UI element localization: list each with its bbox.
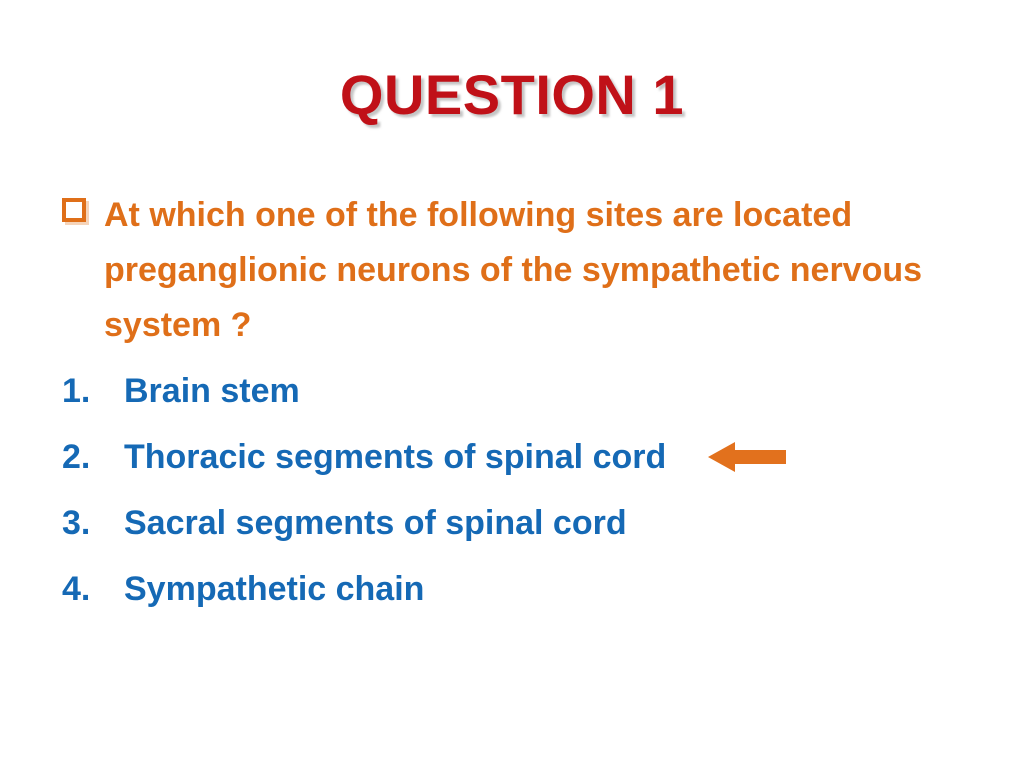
question-text: At which one of the following sites are … <box>104 188 934 353</box>
option-number: 4. <box>62 570 124 609</box>
option-label: Sympathetic chain <box>124 570 424 609</box>
hollow-square-bullet-icon <box>62 198 86 222</box>
list-item[interactable]: 1. Brain stem <box>62 358 1002 424</box>
option-number: 3. <box>62 504 124 543</box>
list-item[interactable]: 4. Sympathetic chain <box>62 556 1002 622</box>
question-row: At which one of the following sites are … <box>62 188 962 353</box>
option-label: Brain stem <box>124 372 300 411</box>
options-list: 1. Brain stem 2. Thoracic segments of sp… <box>62 358 1002 622</box>
option-label: Sacral segments of spinal cord <box>124 504 627 543</box>
option-number: 2. <box>62 438 124 477</box>
option-number: 1. <box>62 372 124 411</box>
option-label: Thoracic segments of spinal cord <box>124 438 666 477</box>
question-block: At which one of the following sites are … <box>62 188 962 353</box>
left-arrow-icon <box>708 440 786 474</box>
page-title: QUESTION 1 <box>0 62 1024 127</box>
slide-canvas: QUESTION 1 At which one of the following… <box>0 0 1024 768</box>
list-item[interactable]: 3. Sacral segments of spinal cord <box>62 490 1002 556</box>
list-item[interactable]: 2. Thoracic segments of spinal cord <box>62 424 1002 490</box>
